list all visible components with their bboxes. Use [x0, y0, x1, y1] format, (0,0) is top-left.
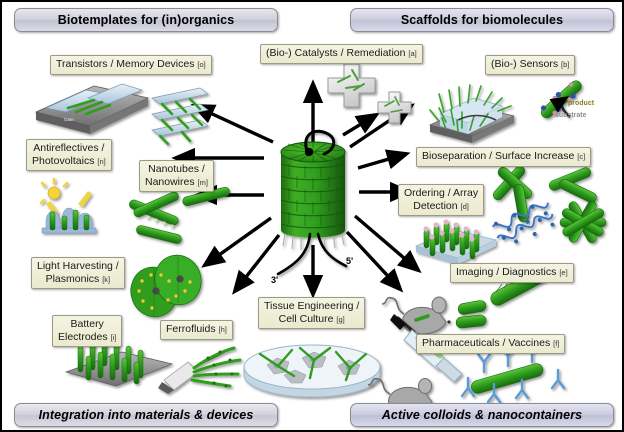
label-ferrofluids-ref: [h]: [219, 325, 227, 334]
banner-top-left: Biotemplates for (in)organics: [14, 8, 278, 32]
ordered-array-illustration: [416, 219, 496, 264]
label-nanotubes: Nanotubes / Nanowires [m]: [139, 160, 214, 192]
product-annotation: product: [568, 100, 594, 107]
label-imaging: Imaging / Diagnostics [e]: [450, 263, 574, 283]
catalyst-particles-illustration: [328, 64, 411, 123]
label-battery-line1: Battery: [58, 318, 116, 331]
label-nanotubes-line2: Nanowires: [145, 176, 195, 188]
green-star-illustration: [560, 200, 606, 245]
nanotubes-illustration: [128, 186, 230, 244]
banner-top-right: Scaffolds for biomolecules: [350, 8, 614, 32]
label-catalysts: (Bio-) Catalysts / Remediation [a]: [260, 44, 423, 64]
label-nanotubes-ref: [m]: [198, 178, 208, 187]
label-tissue-line2: Cell Culture: [279, 313, 334, 325]
substrate-annotation: substrate: [555, 112, 587, 119]
label-light-line1: Light Harvesting /: [37, 260, 119, 273]
label-transistors: Transistors / Memory Devices [o]: [50, 55, 212, 75]
three-prime-label: 3': [271, 275, 278, 285]
label-bioseparation-ref: [c]: [577, 152, 585, 161]
label-ordering: Ordering / Array Detection [d]: [398, 184, 484, 216]
label-sensors-ref: [b]: [561, 60, 569, 69]
label-light-line2: Plasmonics: [46, 273, 100, 285]
cell-culture-dish-illustration: [244, 345, 380, 397]
light-harvesting-illustration: [124, 249, 207, 323]
label-antireflectives-line1: Antireflectives /: [32, 142, 106, 155]
label-pharmaceuticals: Pharmaceuticals / Vaccines [f]: [416, 334, 565, 354]
label-pharmaceuticals-ref: [f]: [553, 339, 559, 348]
label-antireflectives-line2: Photovoltaics: [32, 155, 94, 167]
label-transistors-text: Transistors / Memory Devices: [56, 58, 194, 70]
label-ferrofluids: Ferrofluids [h]: [160, 320, 233, 340]
label-sensors: (Bio-) Sensors [b]: [485, 55, 575, 75]
banner-bottom-left: Integration into materials & devices: [14, 403, 278, 427]
label-ordering-ref: [d]: [461, 202, 469, 211]
label-battery-ref: [i]: [111, 333, 117, 342]
label-ordering-line2: Detection: [413, 200, 457, 212]
label-ferrofluids-text: Ferrofluids: [166, 323, 216, 335]
label-tissue-engineering: Tissue Engineering / Cell Culture [g]: [258, 297, 365, 329]
label-nanotubes-line1: Nanotubes /: [145, 163, 208, 176]
label-sensors-text: (Bio-) Sensors: [491, 58, 558, 70]
biosensor-illustration: [430, 85, 514, 143]
transistor-chip-illustration: Gate: [36, 84, 148, 134]
label-bioseparation: Bioseparation / Surface Increase [c]: [416, 147, 591, 167]
label-pharmaceuticals-text: Pharmaceuticals / Vaccines: [422, 337, 550, 349]
banner-bottom-right: Active colloids & nanocontainers: [350, 403, 614, 427]
label-battery-line2: Electrodes: [58, 331, 108, 343]
label-antireflectives: Antireflectives / Photovoltaics [n]: [26, 139, 112, 171]
label-light-ref: [k]: [102, 275, 110, 284]
label-light-harvesting: Light Harvesting / Plasmonics [k]: [31, 257, 125, 289]
label-antireflectives-ref: [n]: [97, 157, 105, 166]
label-imaging-ref: [e]: [559, 268, 567, 277]
ferrofluid-illustration: [158, 348, 240, 394]
label-bioseparation-text: Bioseparation / Surface Increase: [422, 150, 574, 162]
figure-canvas: 3' 5' Gate: [0, 0, 624, 432]
label-tissue-line1: Tissue Engineering /: [264, 300, 359, 313]
svg-text:Gate: Gate: [64, 117, 74, 122]
label-tissue-ref: [g]: [336, 315, 344, 324]
virus-particle-illustration: [278, 131, 346, 274]
label-transistors-ref: [o]: [197, 60, 205, 69]
five-prime-label: 5': [346, 256, 353, 266]
label-catalysts-ref: [a]: [408, 49, 416, 58]
label-catalysts-text: (Bio-) Catalysts / Remediation: [266, 47, 405, 59]
photovoltaic-illustration: [41, 179, 96, 233]
label-ordering-line1: Ordering / Array: [404, 187, 478, 200]
memory-device-illustration: [152, 88, 208, 144]
label-imaging-text: Imaging / Diagnostics: [456, 266, 556, 278]
label-battery-electrodes: Battery Electrodes [i]: [52, 315, 122, 347]
